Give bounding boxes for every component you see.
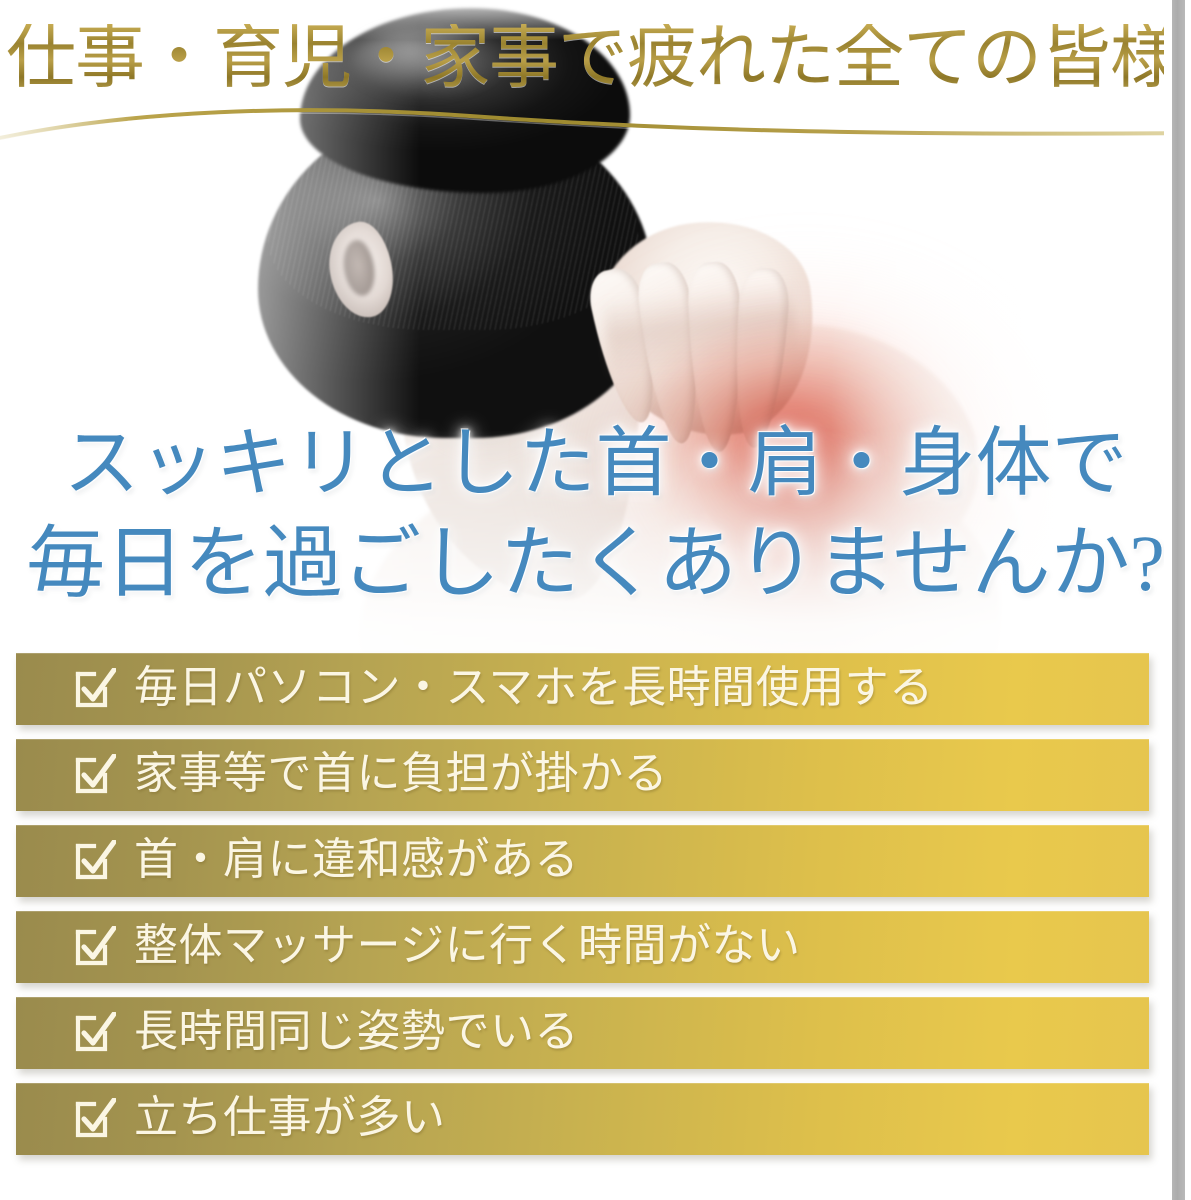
checked-checkbox-icon	[74, 840, 116, 882]
checklist-item[interactable]: 長時間同じ姿勢でいる	[16, 997, 1149, 1069]
checklist-item[interactable]: 毎日パソコン・スマホを長時間使用する	[16, 653, 1149, 725]
checklist-item-label: 毎日パソコン・スマホを長時間使用する	[134, 666, 934, 713]
symptom-checklist: 毎日パソコン・スマホを長時間使用する 家事等で首に負担が掛かる 首・肩に	[0, 653, 1191, 1169]
advertisement-page: 仕事・育児・家事で疲れた全ての皆様へ スッキリとした首・肩・身体で 毎日を過ごし…	[0, 0, 1191, 1200]
header-band: 仕事・育児・家事で疲れた全ての皆様へ	[0, 0, 1191, 150]
page-right-edge	[1185, 0, 1191, 1200]
headline-line-2: 毎日を過ごしたくありませんか?	[0, 514, 1191, 617]
checked-checkbox-icon	[74, 1012, 116, 1054]
checked-checkbox-icon	[74, 754, 116, 796]
checked-checkbox-icon	[74, 668, 116, 710]
checklist-item-label: 立ち仕事が多い	[134, 1096, 446, 1143]
gold-swoosh-divider-icon	[0, 96, 1191, 152]
checklist-item-label: 首・肩に違和感がある	[134, 838, 579, 885]
checklist-item[interactable]: 首・肩に違和感がある	[16, 825, 1149, 897]
checklist-item[interactable]: 立ち仕事が多い	[16, 1083, 1149, 1155]
checked-checkbox-icon	[74, 1098, 116, 1140]
checklist-item-label: 長時間同じ姿勢でいる	[134, 1010, 579, 1057]
checked-checkbox-icon	[74, 926, 116, 968]
page-scrollbar[interactable]	[1172, 0, 1185, 1200]
checklist-item-label: 家事等で首に負担が掛かる	[134, 752, 668, 799]
checklist-item[interactable]: 整体マッサージに行く時間がない	[16, 911, 1149, 983]
headline-line-1: スッキリとした首・肩・身体で	[0, 415, 1191, 514]
checklist-item-label: 整体マッサージに行く時間がない	[134, 924, 801, 971]
page-title: 仕事・育児・家事で疲れた全ての皆様へ	[6, 24, 1181, 94]
page-right-margin	[1164, 0, 1172, 1200]
hero-headline: スッキリとした首・肩・身体で 毎日を過ごしたくありませんか?	[0, 415, 1191, 616]
checklist-item[interactable]: 家事等で首に負担が掛かる	[16, 739, 1149, 811]
